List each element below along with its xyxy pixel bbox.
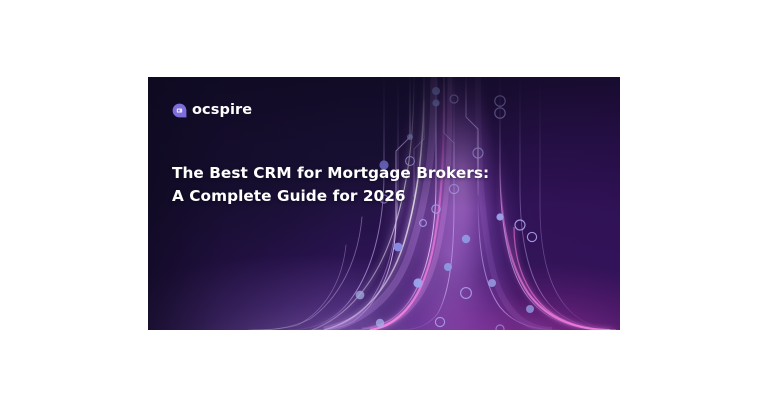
page-root: ocspire The Best CRM for Mortgage Broker…	[0, 0, 768, 416]
brand-wordmark: ocspire	[192, 103, 252, 118]
ocspire-droplet-icon	[172, 103, 187, 118]
hero-banner: ocspire The Best CRM for Mortgage Broker…	[148, 77, 620, 330]
brand-logo[interactable]: ocspire	[172, 103, 252, 118]
hero-title: The Best CRM for Mortgage Brokers: A Com…	[172, 162, 502, 207]
